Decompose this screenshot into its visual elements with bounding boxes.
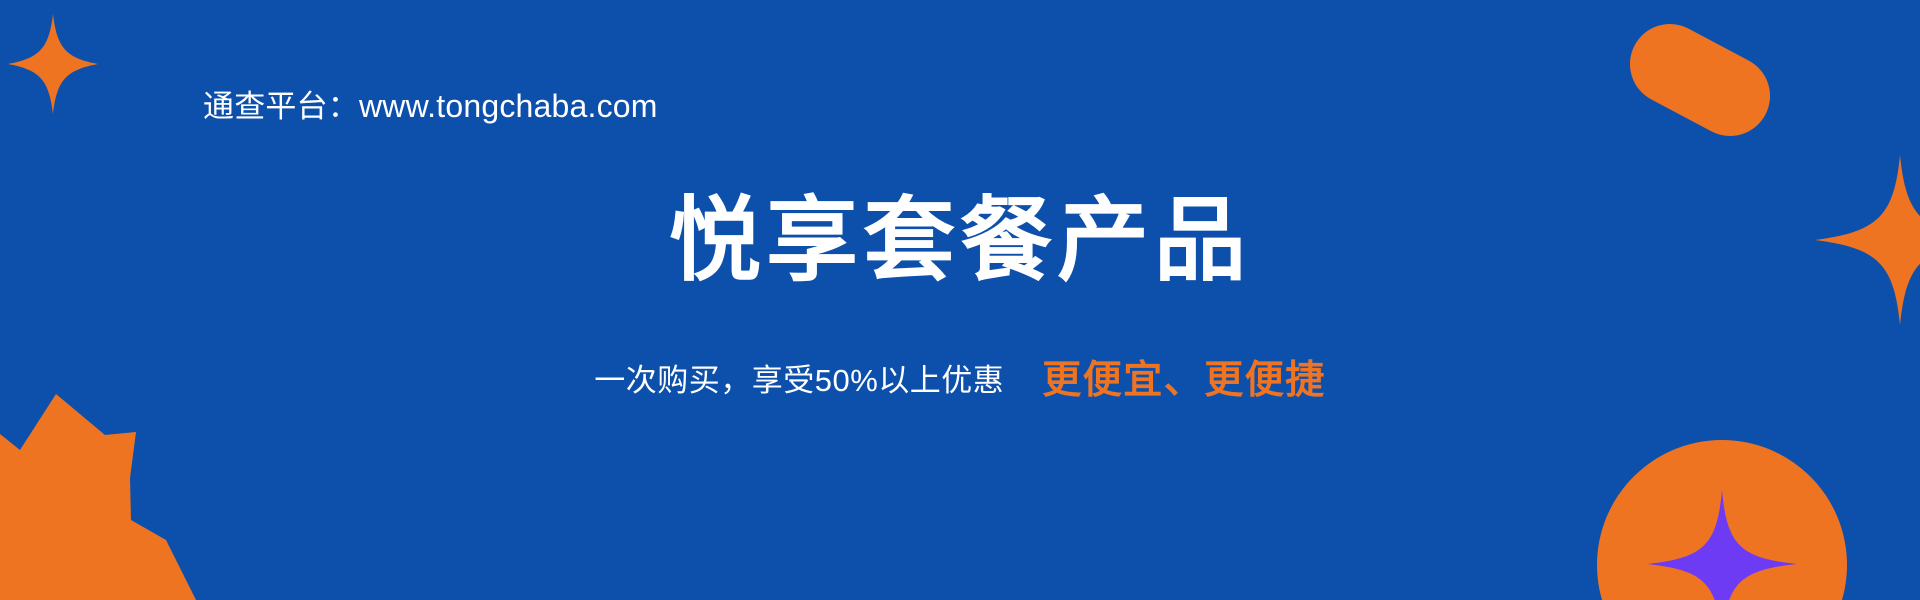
page-title: 悦享套餐产品 [0, 190, 1920, 293]
subtitle-accent-text: 更便宜、更便捷 [1042, 359, 1326, 402]
subtitle-plain-text: 一次购买，享受50%以上优惠 [594, 363, 1004, 398]
platform-line: 通查平台：www.tongchaba.com [203, 85, 658, 128]
banner-content: 通查平台：www.tongchaba.com 悦享套餐产品 一次购买，享受50%… [0, 0, 1920, 600]
platform-url[interactable]: www.tongchaba.com [359, 88, 658, 124]
subtitle-row: 一次购买，享受50%以上优惠更便宜、更便捷 [0, 356, 1920, 407]
promo-banner: 通查平台：www.tongchaba.com 悦享套餐产品 一次购买，享受50%… [0, 0, 1920, 600]
platform-label: 通查平台： [203, 89, 359, 124]
